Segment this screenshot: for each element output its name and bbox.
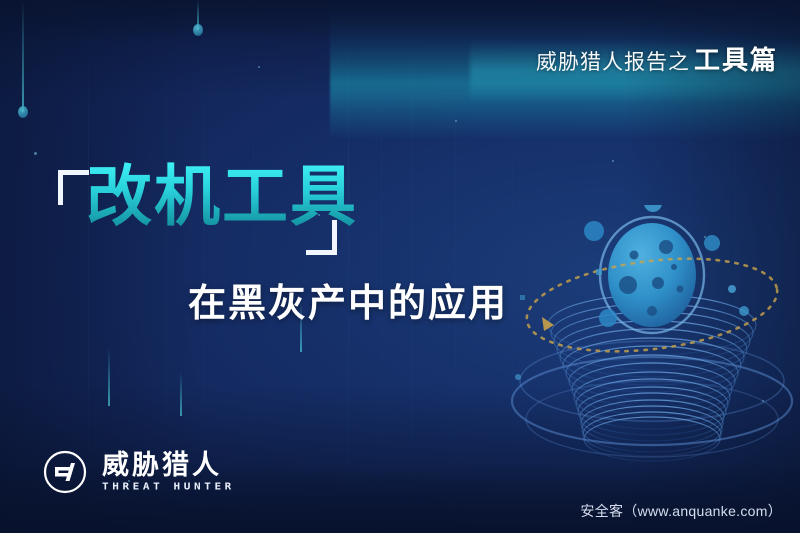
background-sparkle bbox=[258, 66, 260, 68]
presentation-slide: 威胁猎人报告之工具篇 改机工具 在黑灰产中的应用 威胁猎人 THREAT HUN… bbox=[0, 0, 800, 533]
particle-tail bbox=[22, 0, 24, 112]
background-sparkle bbox=[612, 160, 614, 162]
vertical-accent-line bbox=[455, 0, 456, 533]
brand-logo: 威胁猎人 THREAT HUNTER bbox=[42, 449, 235, 495]
vertical-accent-line bbox=[253, 0, 254, 533]
brand-name-en: THREAT HUNTER bbox=[102, 481, 235, 491]
header-title: 威胁猎人报告之工具篇 bbox=[536, 40, 778, 77]
header-lead-text: 威胁猎人报告之 bbox=[536, 51, 690, 74]
threat-hunter-emblem-icon bbox=[42, 449, 88, 495]
bracket-close-mark bbox=[306, 220, 337, 255]
site-watermark: 安全客（www.anquanke.com） bbox=[580, 501, 782, 521]
vertical-accent-line bbox=[348, 0, 349, 533]
brand-logo-text: 威胁猎人 THREAT HUNTER bbox=[102, 452, 235, 492]
brand-name-cn: 威胁猎人 bbox=[102, 452, 235, 479]
sphere-vortex-illustration bbox=[500, 205, 800, 495]
vertical-accent-line bbox=[381, 0, 382, 533]
bracket-open-mark bbox=[58, 170, 89, 205]
page-subtitle: 在黑灰产中的应用 bbox=[188, 272, 508, 327]
particle-tail bbox=[108, 348, 110, 406]
particle-head-dot bbox=[18, 106, 28, 118]
falling-particle bbox=[108, 348, 110, 406]
background-sparkle bbox=[34, 152, 37, 155]
header-accent-text: 工具篇 bbox=[694, 45, 778, 75]
title-block: 改机工具 在黑灰产中的应用 bbox=[58, 164, 498, 260]
background-sparkle bbox=[455, 120, 457, 122]
particle-tail bbox=[180, 372, 182, 416]
falling-particle bbox=[197, 0, 199, 30]
falling-particle bbox=[22, 0, 24, 112]
vertical-accent-line bbox=[411, 0, 412, 533]
title-row: 改机工具 bbox=[58, 164, 498, 260]
particle-head-dot bbox=[193, 24, 203, 36]
falling-particle bbox=[180, 372, 182, 416]
